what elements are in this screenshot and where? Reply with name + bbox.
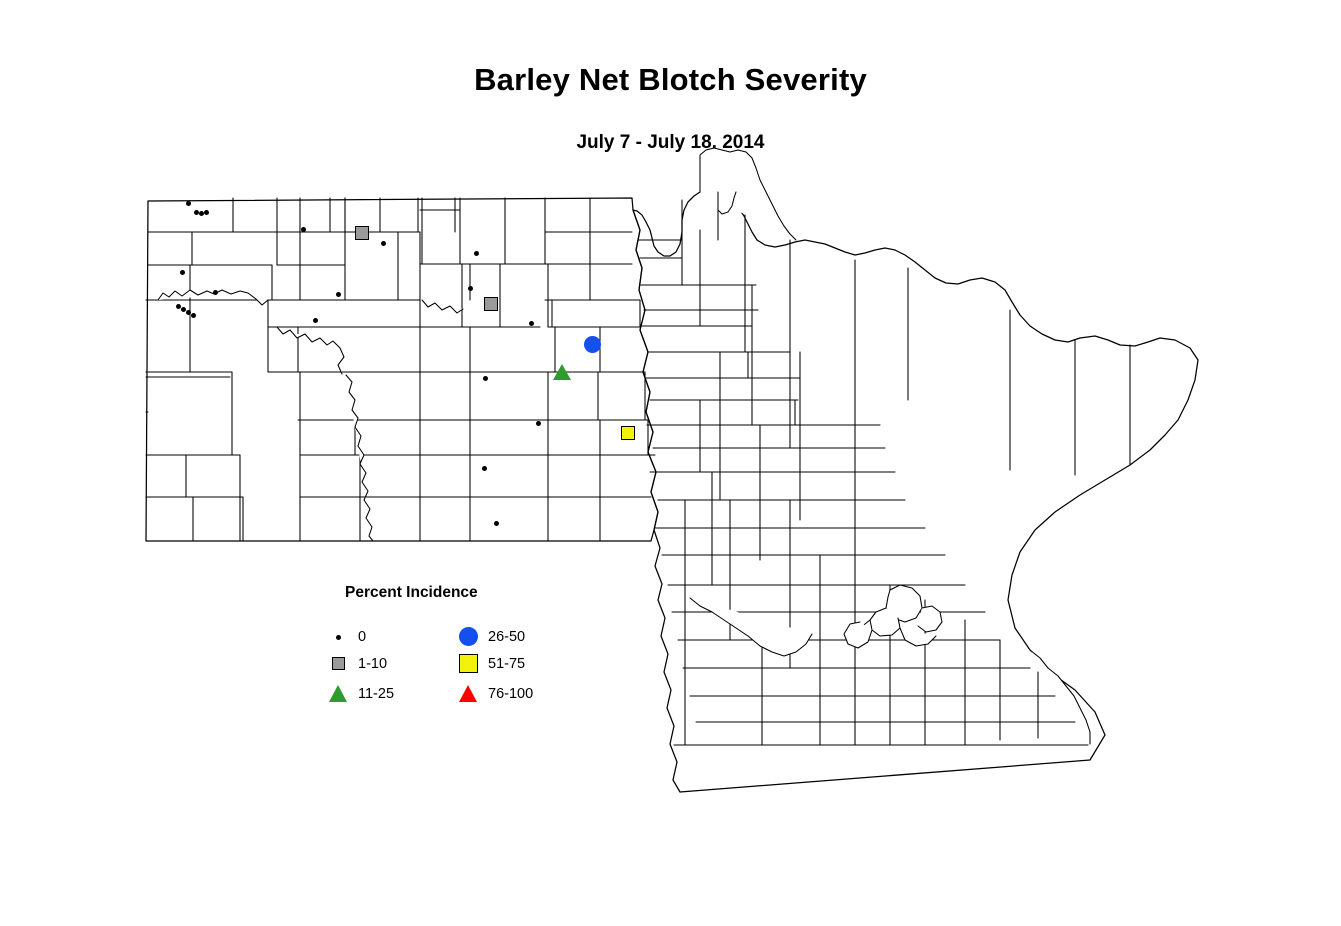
map-marker-51-75[interactable]	[621, 426, 635, 440]
legend-symbol-shape	[459, 627, 478, 646]
map-marker-0[interactable]	[181, 307, 186, 312]
legend-symbol-shape	[459, 654, 478, 673]
state-county-map	[0, 0, 1341, 926]
legend-dot-icon	[328, 626, 350, 648]
map-marker-0[interactable]	[336, 292, 341, 297]
map-marker-0[interactable]	[482, 466, 487, 471]
map-marker-1-10[interactable]	[355, 226, 369, 240]
legend-symbol-shape	[336, 635, 341, 640]
map-marker-0[interactable]	[313, 318, 318, 323]
legend-entry-label: 0	[358, 629, 366, 645]
map-marker-0[interactable]	[468, 286, 473, 291]
map-marker-0[interactable]	[194, 210, 199, 215]
map-marker-0[interactable]	[301, 227, 306, 232]
map-marker-0[interactable]	[494, 521, 499, 526]
map-marker-0[interactable]	[213, 290, 218, 295]
map-marker-0[interactable]	[191, 313, 196, 318]
legend-symbol-shape	[459, 685, 477, 702]
legend-entry-label: 51-75	[488, 656, 525, 672]
legend-triangle-icon	[328, 683, 350, 705]
map-marker-0[interactable]	[529, 321, 534, 326]
legend-entry-label: 11-25	[358, 686, 394, 702]
legend-symbol-shape	[329, 685, 347, 702]
north-dakota-counties	[146, 198, 658, 541]
nd-water-features	[158, 290, 463, 541]
legend-square-icon	[328, 653, 350, 675]
map-marker-1-10[interactable]	[484, 297, 498, 311]
legend-entry-label: 76-100	[488, 686, 533, 702]
map-marker-0[interactable]	[199, 211, 204, 216]
legend: Percent Incidence 01-1011-2526-5051-7576…	[318, 578, 598, 718]
legend-title: Percent Incidence	[345, 584, 478, 602]
map-marker-0[interactable]	[180, 270, 185, 275]
map-marker-0[interactable]	[176, 304, 181, 309]
legend-symbol-shape	[332, 657, 345, 670]
map-marker-0[interactable]	[204, 210, 209, 215]
map-marker-0[interactable]	[474, 251, 479, 256]
figure-canvas: Barley Net Blotch Severity July 7 - July…	[0, 0, 1341, 926]
minnesota-counties	[633, 148, 1198, 792]
map-marker-11-25[interactable]	[553, 364, 571, 380]
legend-entry-label: 26-50	[488, 629, 525, 645]
map-marker-0[interactable]	[536, 421, 541, 426]
map-marker-0[interactable]	[186, 201, 191, 206]
map-marker-0[interactable]	[483, 376, 488, 381]
map-marker-0[interactable]	[381, 241, 386, 246]
legend-triangle-icon	[458, 683, 480, 705]
map-marker-0[interactable]	[186, 310, 191, 315]
map-marker-26-50[interactable]	[584, 336, 601, 353]
map-container[interactable]	[0, 0, 1341, 926]
legend-entry-label: 1-10	[358, 656, 387, 672]
legend-square-icon	[458, 653, 480, 675]
legend-circle-icon	[458, 626, 480, 648]
